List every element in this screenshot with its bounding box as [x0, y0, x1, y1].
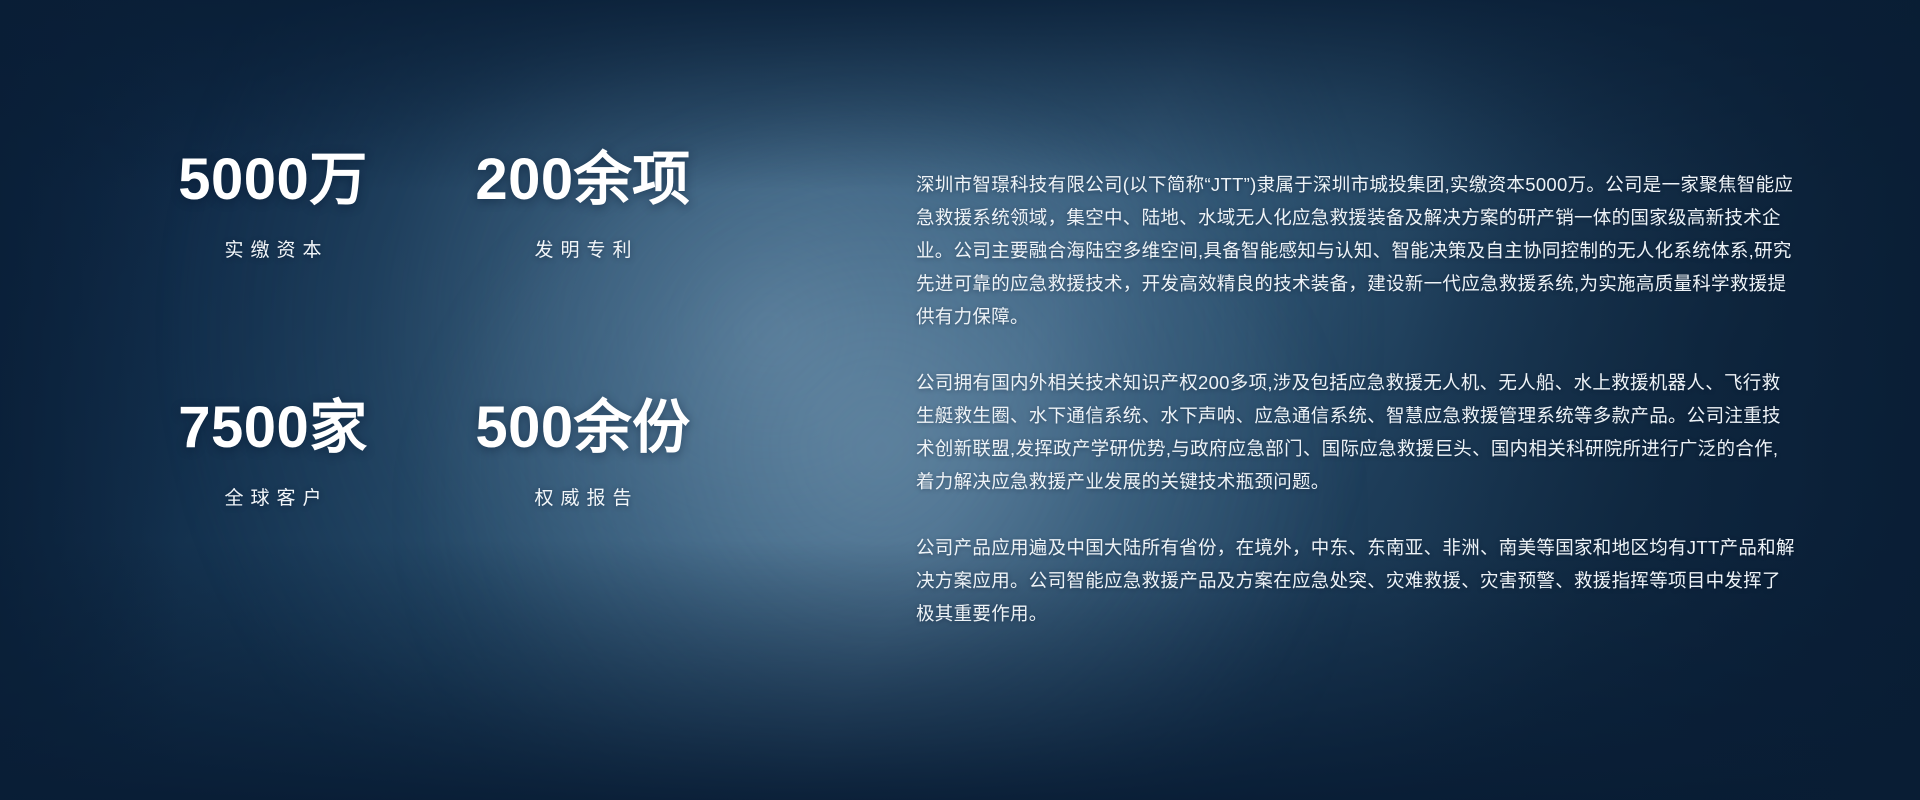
stat-label: 权威报告 — [458, 483, 708, 510]
content-layer: 5000万 实缴资本 200余项 发明专利 7500家 全球客户 500余份 权… — [0, 0, 1920, 800]
about-paragraph-1: 深圳市智璟科技有限公司(以下简称“JTT”)隶属于深圳市城投集团,实缴资本500… — [916, 168, 1796, 333]
stat-paid-in-capital: 5000万 实缴资本 — [148, 150, 458, 350]
page-stage: 5000万 实缴资本 200余项 发明专利 7500家 全球客户 500余份 权… — [0, 0, 1920, 800]
stat-authoritative-reports: 500余份 权威报告 — [458, 398, 768, 598]
stat-global-customers: 7500家 全球客户 — [148, 398, 458, 598]
stat-value: 200余项 — [458, 150, 708, 211]
about-paragraph-2: 公司拥有国内外相关技术知识产权200多项,涉及包括应急救援无人机、无人船、水上救… — [916, 366, 1796, 498]
company-description: 深圳市智璟科技有限公司(以下简称“JTT”)隶属于深圳市城投集团,实缴资本500… — [916, 168, 1796, 630]
stat-label: 全球客户 — [148, 483, 398, 510]
statistics-grid: 5000万 实缴资本 200余项 发明专利 7500家 全球客户 500余份 权… — [148, 150, 768, 598]
stat-value: 500余份 — [458, 398, 708, 459]
stat-label: 发明专利 — [458, 235, 708, 262]
stat-value: 5000万 — [148, 150, 398, 211]
about-paragraph-3: 公司产品应用遍及中国大陆所有省份，在境外，中东、东南亚、非洲、南美等国家和地区均… — [916, 531, 1796, 630]
stat-label: 实缴资本 — [148, 235, 398, 262]
stat-value: 7500家 — [148, 398, 398, 459]
stat-invention-patents: 200余项 发明专利 — [458, 150, 768, 350]
